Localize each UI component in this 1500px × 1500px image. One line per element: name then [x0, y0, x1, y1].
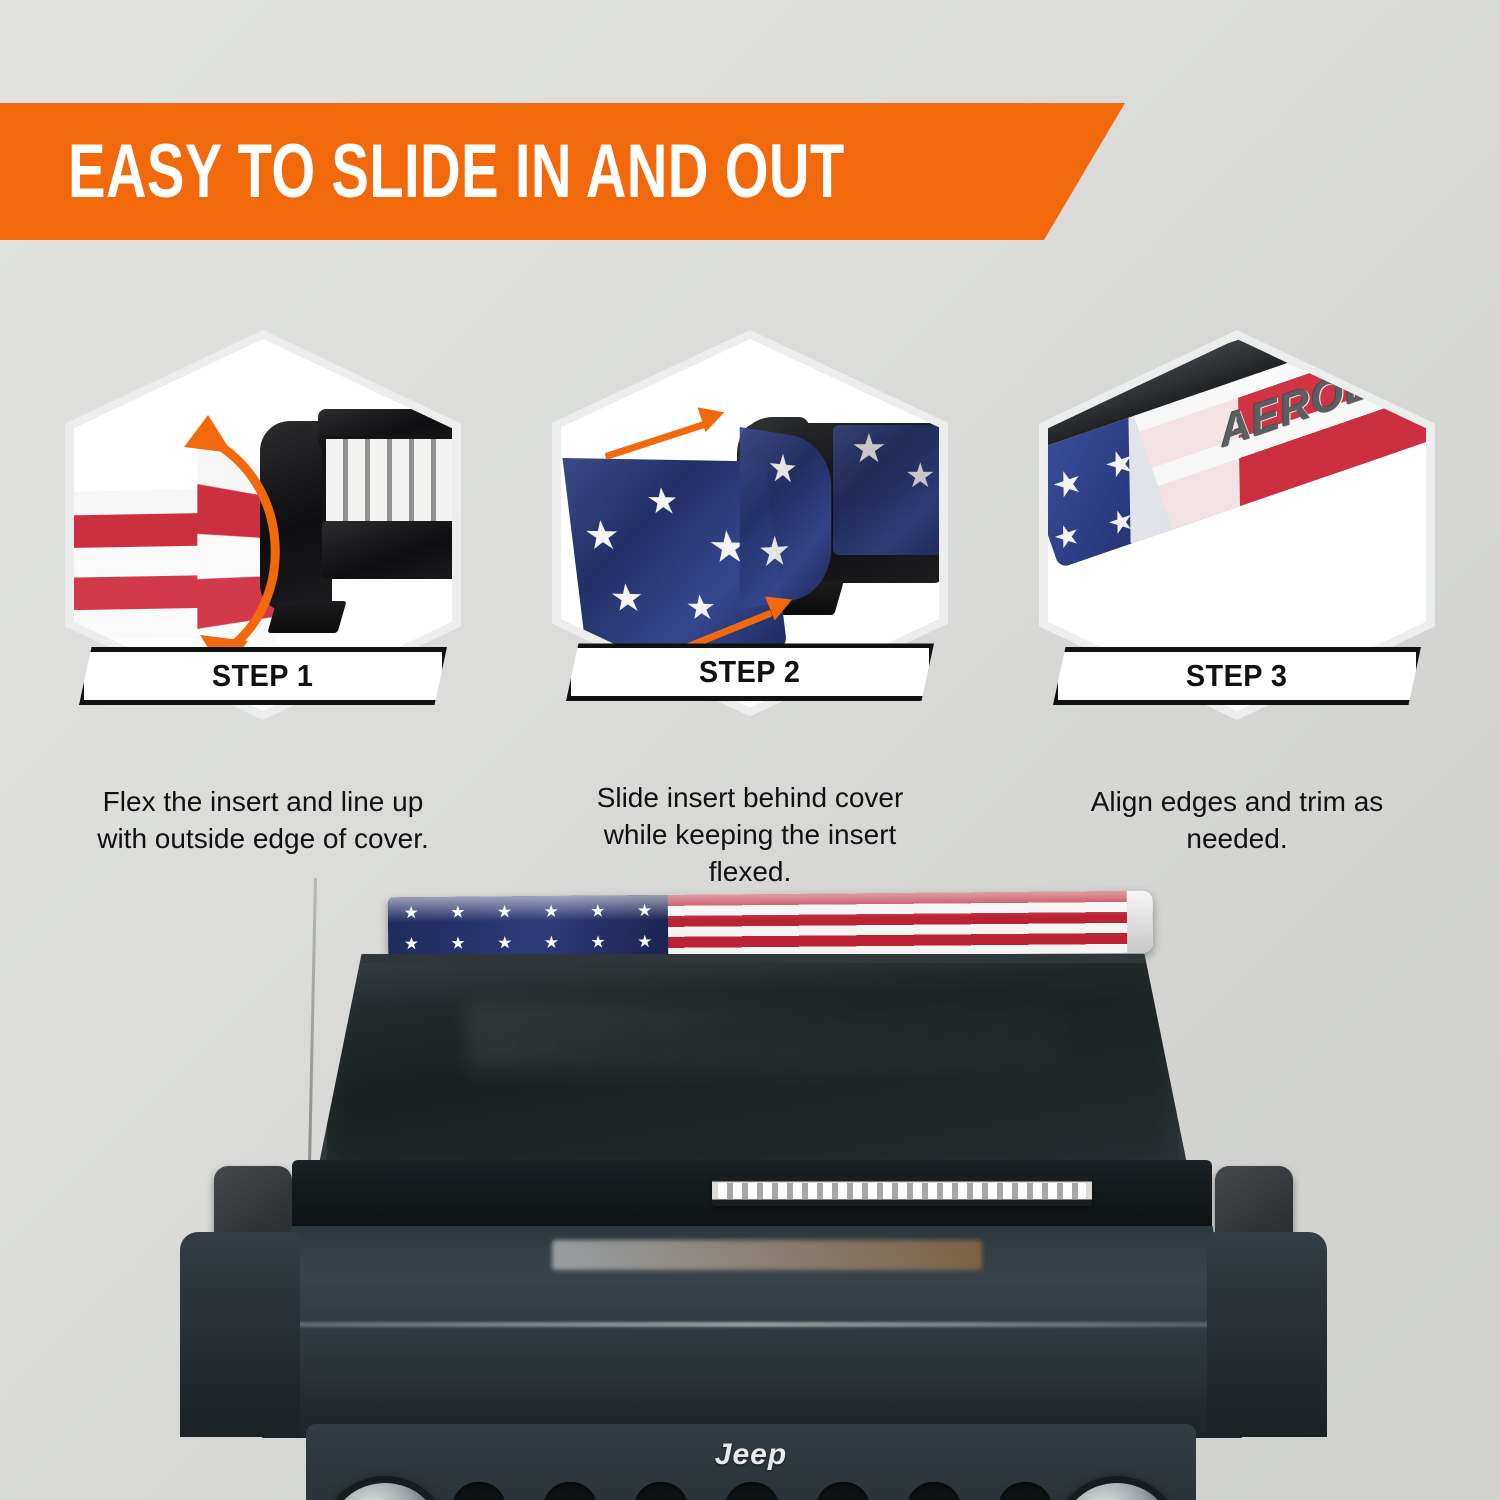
step-3-badge-label: STEP 3 [1186, 658, 1288, 694]
headlight-left [324, 1476, 446, 1500]
led-emitters [718, 1183, 1086, 1200]
led-face [322, 435, 452, 527]
star-icon: ★ [851, 429, 887, 469]
fender-right [1207, 1232, 1327, 1437]
step-3-caption: Align edges and trim as needed. [1057, 783, 1417, 857]
star-icon: ★ [1048, 463, 1088, 505]
step-1-caption: Flex the insert and line up with outside… [83, 783, 443, 857]
grille-slot [816, 1482, 870, 1500]
step-1-badge: STEP 1 [79, 647, 447, 705]
grille-slot [998, 1482, 1052, 1500]
step-card-2: ★ ★ ★ ★ ★ ★ ★ ★ ★ [535, 330, 965, 890]
windshield-light-bar-cover: ★ ★ ★ ★ ★ ★ ★ ★ ★ ★ ★ ★ [388, 891, 1154, 960]
step-2-badge: STEP 2 [566, 643, 934, 701]
star-icon: ★ [582, 516, 623, 556]
vehicle-photo: ★ ★ ★ ★ ★ ★ ★ ★ ★ ★ ★ ★ [0, 870, 1500, 1500]
finished-cover-assembly: ★ ★ ★ ★ AEROLIDZ [1048, 339, 1426, 599]
flag-insert-curved-end: ★ ★ [740, 427, 832, 609]
step-1-badge-label: STEP 1 [212, 658, 314, 694]
star-icon: ★ [590, 933, 605, 950]
star-icon: ★ [1050, 519, 1085, 556]
light-bar-lower-housing [322, 521, 452, 579]
grille: Jeep [306, 1424, 1196, 1500]
cowl [292, 1160, 1212, 1232]
star-icon: ★ [497, 934, 512, 951]
windshield [318, 954, 1188, 1169]
jeep-badge: Jeep [306, 1438, 1196, 1472]
grille-slots [452, 1482, 1052, 1500]
star-icon: ★ [404, 935, 419, 952]
step-card-3: ★ ★ ★ ★ AEROLIDZ STEP 3 Align [1022, 330, 1452, 890]
grille-slot [452, 1482, 506, 1500]
star-icon: ★ [544, 934, 559, 951]
grille-slot [907, 1482, 961, 1500]
hood-seam [272, 1322, 1232, 1327]
page-title: EASY TO SLIDE IN AND OUT [68, 134, 845, 210]
flag-insert-far-side: ★ ★ [833, 425, 939, 555]
step-card-1: STEP 1 Flex the insert and line up with … [48, 330, 478, 890]
cover-end-cap [1127, 891, 1154, 953]
hood [262, 1226, 1242, 1438]
steps-row: STEP 1 Flex the insert and line up with … [0, 330, 1500, 890]
slide-arrow-line-top [604, 421, 705, 460]
step-2-badge-label: STEP 2 [699, 654, 801, 690]
star-icon: ★ [905, 459, 935, 493]
hood-decal [552, 1240, 982, 1270]
star-icon: ★ [758, 531, 791, 574]
jeep-body: Jeep [196, 954, 1311, 1500]
step-3-badge: STEP 3 [1053, 647, 1421, 705]
flex-arrow-icon [166, 397, 316, 677]
fender-left [180, 1232, 300, 1437]
header-banner: EASY TO SLIDE IN AND OUT [0, 103, 1125, 240]
star-icon: ★ [644, 483, 681, 519]
star-icon: ★ [608, 580, 647, 618]
windshield-glare [467, 1003, 1067, 1073]
star-icon: ★ [767, 448, 797, 489]
hood-led-light-bar [712, 1176, 1092, 1206]
grille-slot [634, 1482, 688, 1500]
headlight-right [1056, 1476, 1178, 1500]
star-icon: ★ [450, 935, 465, 952]
grille-slot [725, 1482, 779, 1500]
star-icon: ★ [684, 591, 719, 625]
grille-slot [543, 1482, 597, 1500]
star-icon: ★ [637, 933, 652, 950]
